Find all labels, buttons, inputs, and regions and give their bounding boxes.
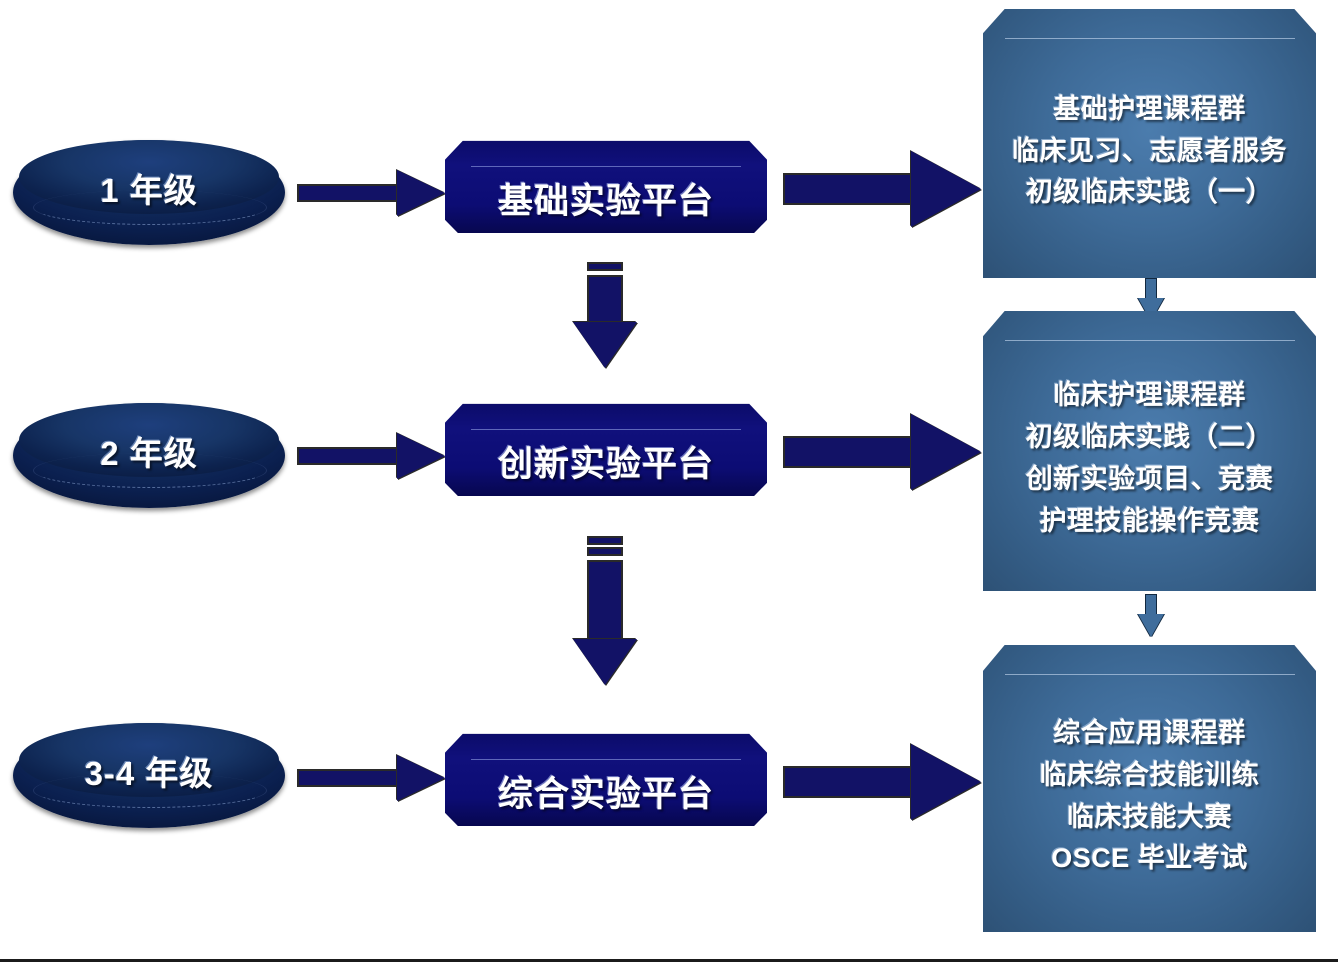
arrow-cap-segment (587, 536, 623, 545)
platform-box-1[interactable]: 基础实验平台 (445, 139, 767, 233)
platform-box-3[interactable]: 综合实验平台 (445, 732, 767, 826)
outcome-box-3[interactable]: 综合应用课程群 临床综合技能训练 临床技能大赛 OSCE 毕业考试 (983, 645, 1316, 932)
diagram-canvas: 1 年级 2 年级 3-4 年级 基础实验平台 创新实验平台 (0, 0, 1338, 962)
year-disc-3: 3-4 年级 (13, 723, 285, 828)
arrow-head (397, 755, 445, 801)
arrow-year1-to-platform1 (297, 170, 445, 216)
outcome-box-1[interactable]: 基础护理课程群 临床见习、志愿者服务 初级临床实践（一） (983, 9, 1316, 278)
arrow-shaft (587, 275, 623, 325)
year-disc-2: 2 年级 (13, 403, 285, 508)
arrow-shaft (587, 560, 623, 642)
arrow-platform2-to-outcome2 (783, 414, 981, 490)
arrow-shaft (783, 436, 915, 468)
outcome-box-2-text: 临床护理课程群 初级临床实践（二） 创新实验项目、竞赛 护理技能操作竞赛 (983, 311, 1316, 591)
year-disc-1-label: 1 年级 (13, 140, 285, 245)
arrow-shaft (1145, 278, 1157, 300)
arrow-shaft (1145, 594, 1157, 616)
outcome-line: 基础护理课程群 (1053, 89, 1246, 131)
outcome-box-2[interactable]: 临床护理课程群 初级临床实践（二） 创新实验项目、竞赛 护理技能操作竞赛 (983, 311, 1316, 591)
outcome-box-3-text: 综合应用课程群 临床综合技能训练 临床技能大赛 OSCE 毕业考试 (983, 645, 1316, 932)
outcome-line: 创新实验项目、竞赛 (1026, 459, 1274, 501)
arrow-head (1138, 614, 1164, 637)
arrow-cap-segment (587, 262, 623, 271)
arrow-platform2-to-platform3 (573, 536, 637, 688)
outcome-line: 临床技能大赛 (1067, 797, 1232, 839)
outcome-box-1-text: 基础护理课程群 临床见习、志愿者服务 初级临床实践（一） (983, 9, 1316, 278)
arrow-head (911, 744, 981, 820)
arrow-shaft (297, 184, 401, 202)
arrow-shaft (297, 769, 401, 787)
outcome-line: 临床护理课程群 (1053, 375, 1246, 417)
platform-box-3-label: 综合实验平台 (445, 756, 767, 826)
arrow-outcome2-to-outcome3 (1136, 594, 1166, 638)
arrow-head (397, 170, 445, 216)
platform-box-2[interactable]: 创新实验平台 (445, 402, 767, 496)
outcome-line: 临床见习、志愿者服务 (1012, 131, 1287, 173)
platform-box-2-label: 创新实验平台 (445, 426, 767, 496)
arrow-cap-segment-2 (587, 547, 623, 556)
arrow-platform3-to-outcome3 (783, 744, 981, 820)
arrow-shaft (783, 766, 915, 798)
arrow-platform1-to-platform2 (573, 262, 637, 368)
year-disc-1: 1 年级 (13, 140, 285, 245)
arrow-shaft (783, 173, 915, 205)
arrow-year3-to-platform3 (297, 755, 445, 801)
arrow-head (573, 639, 637, 685)
outcome-line: 护理技能操作竞赛 (1040, 501, 1260, 543)
arrow-head (911, 414, 981, 490)
year-disc-3-label: 3-4 年级 (13, 723, 285, 828)
year-disc-2-label: 2 年级 (13, 403, 285, 508)
arrow-platform1-to-outcome1 (783, 151, 981, 227)
arrow-head (573, 322, 637, 368)
platform-box-1-label: 基础实验平台 (445, 163, 767, 233)
arrow-shaft (297, 447, 401, 465)
arrow-head (397, 433, 445, 479)
outcome-line: 综合应用课程群 (1053, 713, 1246, 755)
outcome-line: 临床综合技能训练 (1040, 755, 1260, 797)
outcome-line: OSCE 毕业考试 (1051, 838, 1248, 880)
arrow-year2-to-platform2 (297, 433, 445, 479)
outcome-line: 初级临床实践（二） (1026, 417, 1274, 459)
outcome-line: 初级临床实践（一） (1026, 172, 1274, 214)
arrow-head (911, 151, 981, 227)
